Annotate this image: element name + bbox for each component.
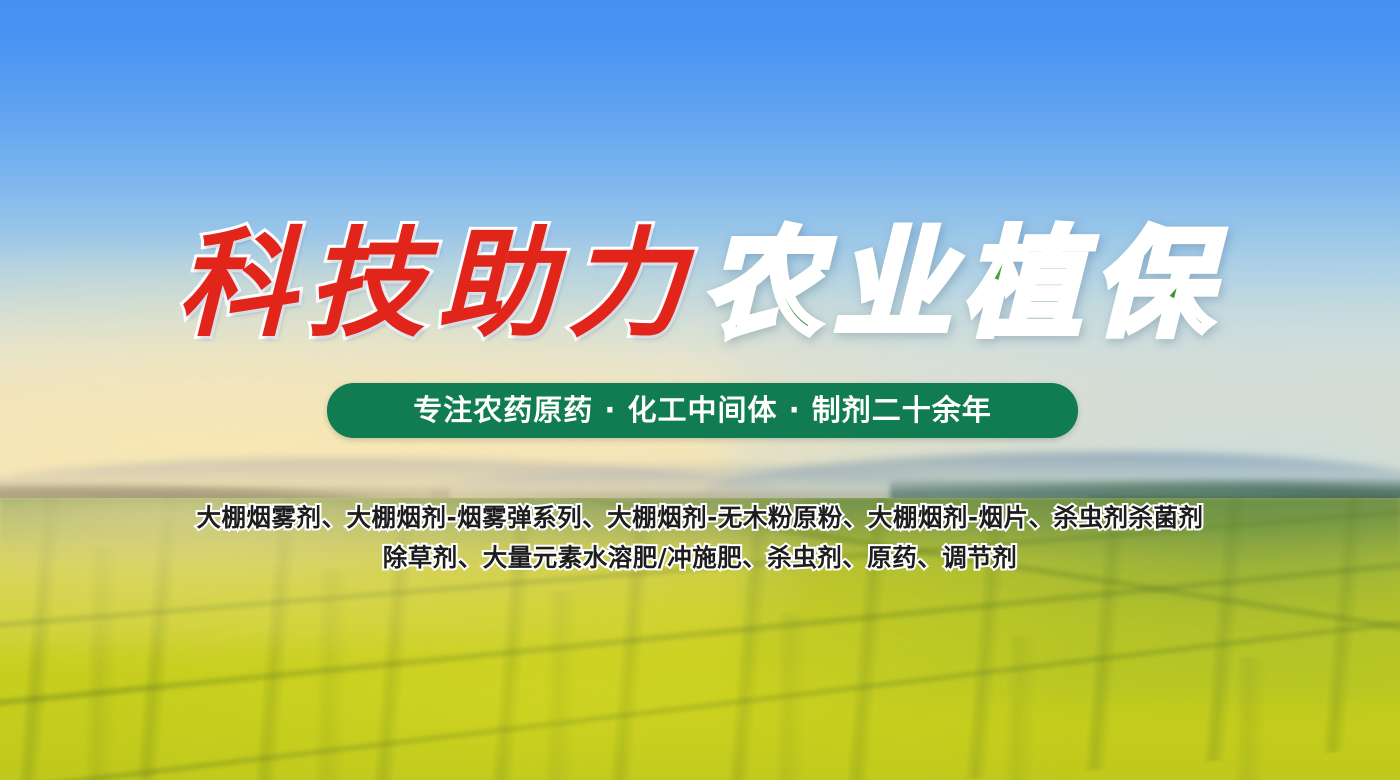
hero-banner: 科技助力 农业植保 专注农药原药 · 化工中间体 · 制剂二十余年 大棚烟雾剂、… (0, 0, 1400, 780)
subtitle-pill: 专注农药原药 · 化工中间体 · 制剂二十余年 (327, 383, 1078, 438)
subtitle-text: 专注农药原药 · 化工中间体 · 制剂二十余年 (413, 396, 991, 425)
field-sun-glow (150, 588, 1050, 780)
product-list: 大棚烟雾剂、大棚烟剂-烟雾弹系列、大棚烟剂-无木粉原粉、大棚烟剂-烟片、杀虫剂杀… (0, 498, 1400, 578)
headline-red-text: 科技助力 (177, 225, 697, 343)
headline: 科技助力 农业植保 (0, 200, 1400, 368)
product-line-1: 大棚烟雾剂、大棚烟剂-烟雾弹系列、大棚烟剂-无木粉原粉、大棚烟剂-烟片、杀虫剂杀… (0, 498, 1400, 538)
product-line-2: 除草剂、大量元素水溶肥/冲施肥、杀虫剂、原药、调节剂 (0, 538, 1400, 578)
headline-green-text: 农业植保 (703, 225, 1223, 343)
